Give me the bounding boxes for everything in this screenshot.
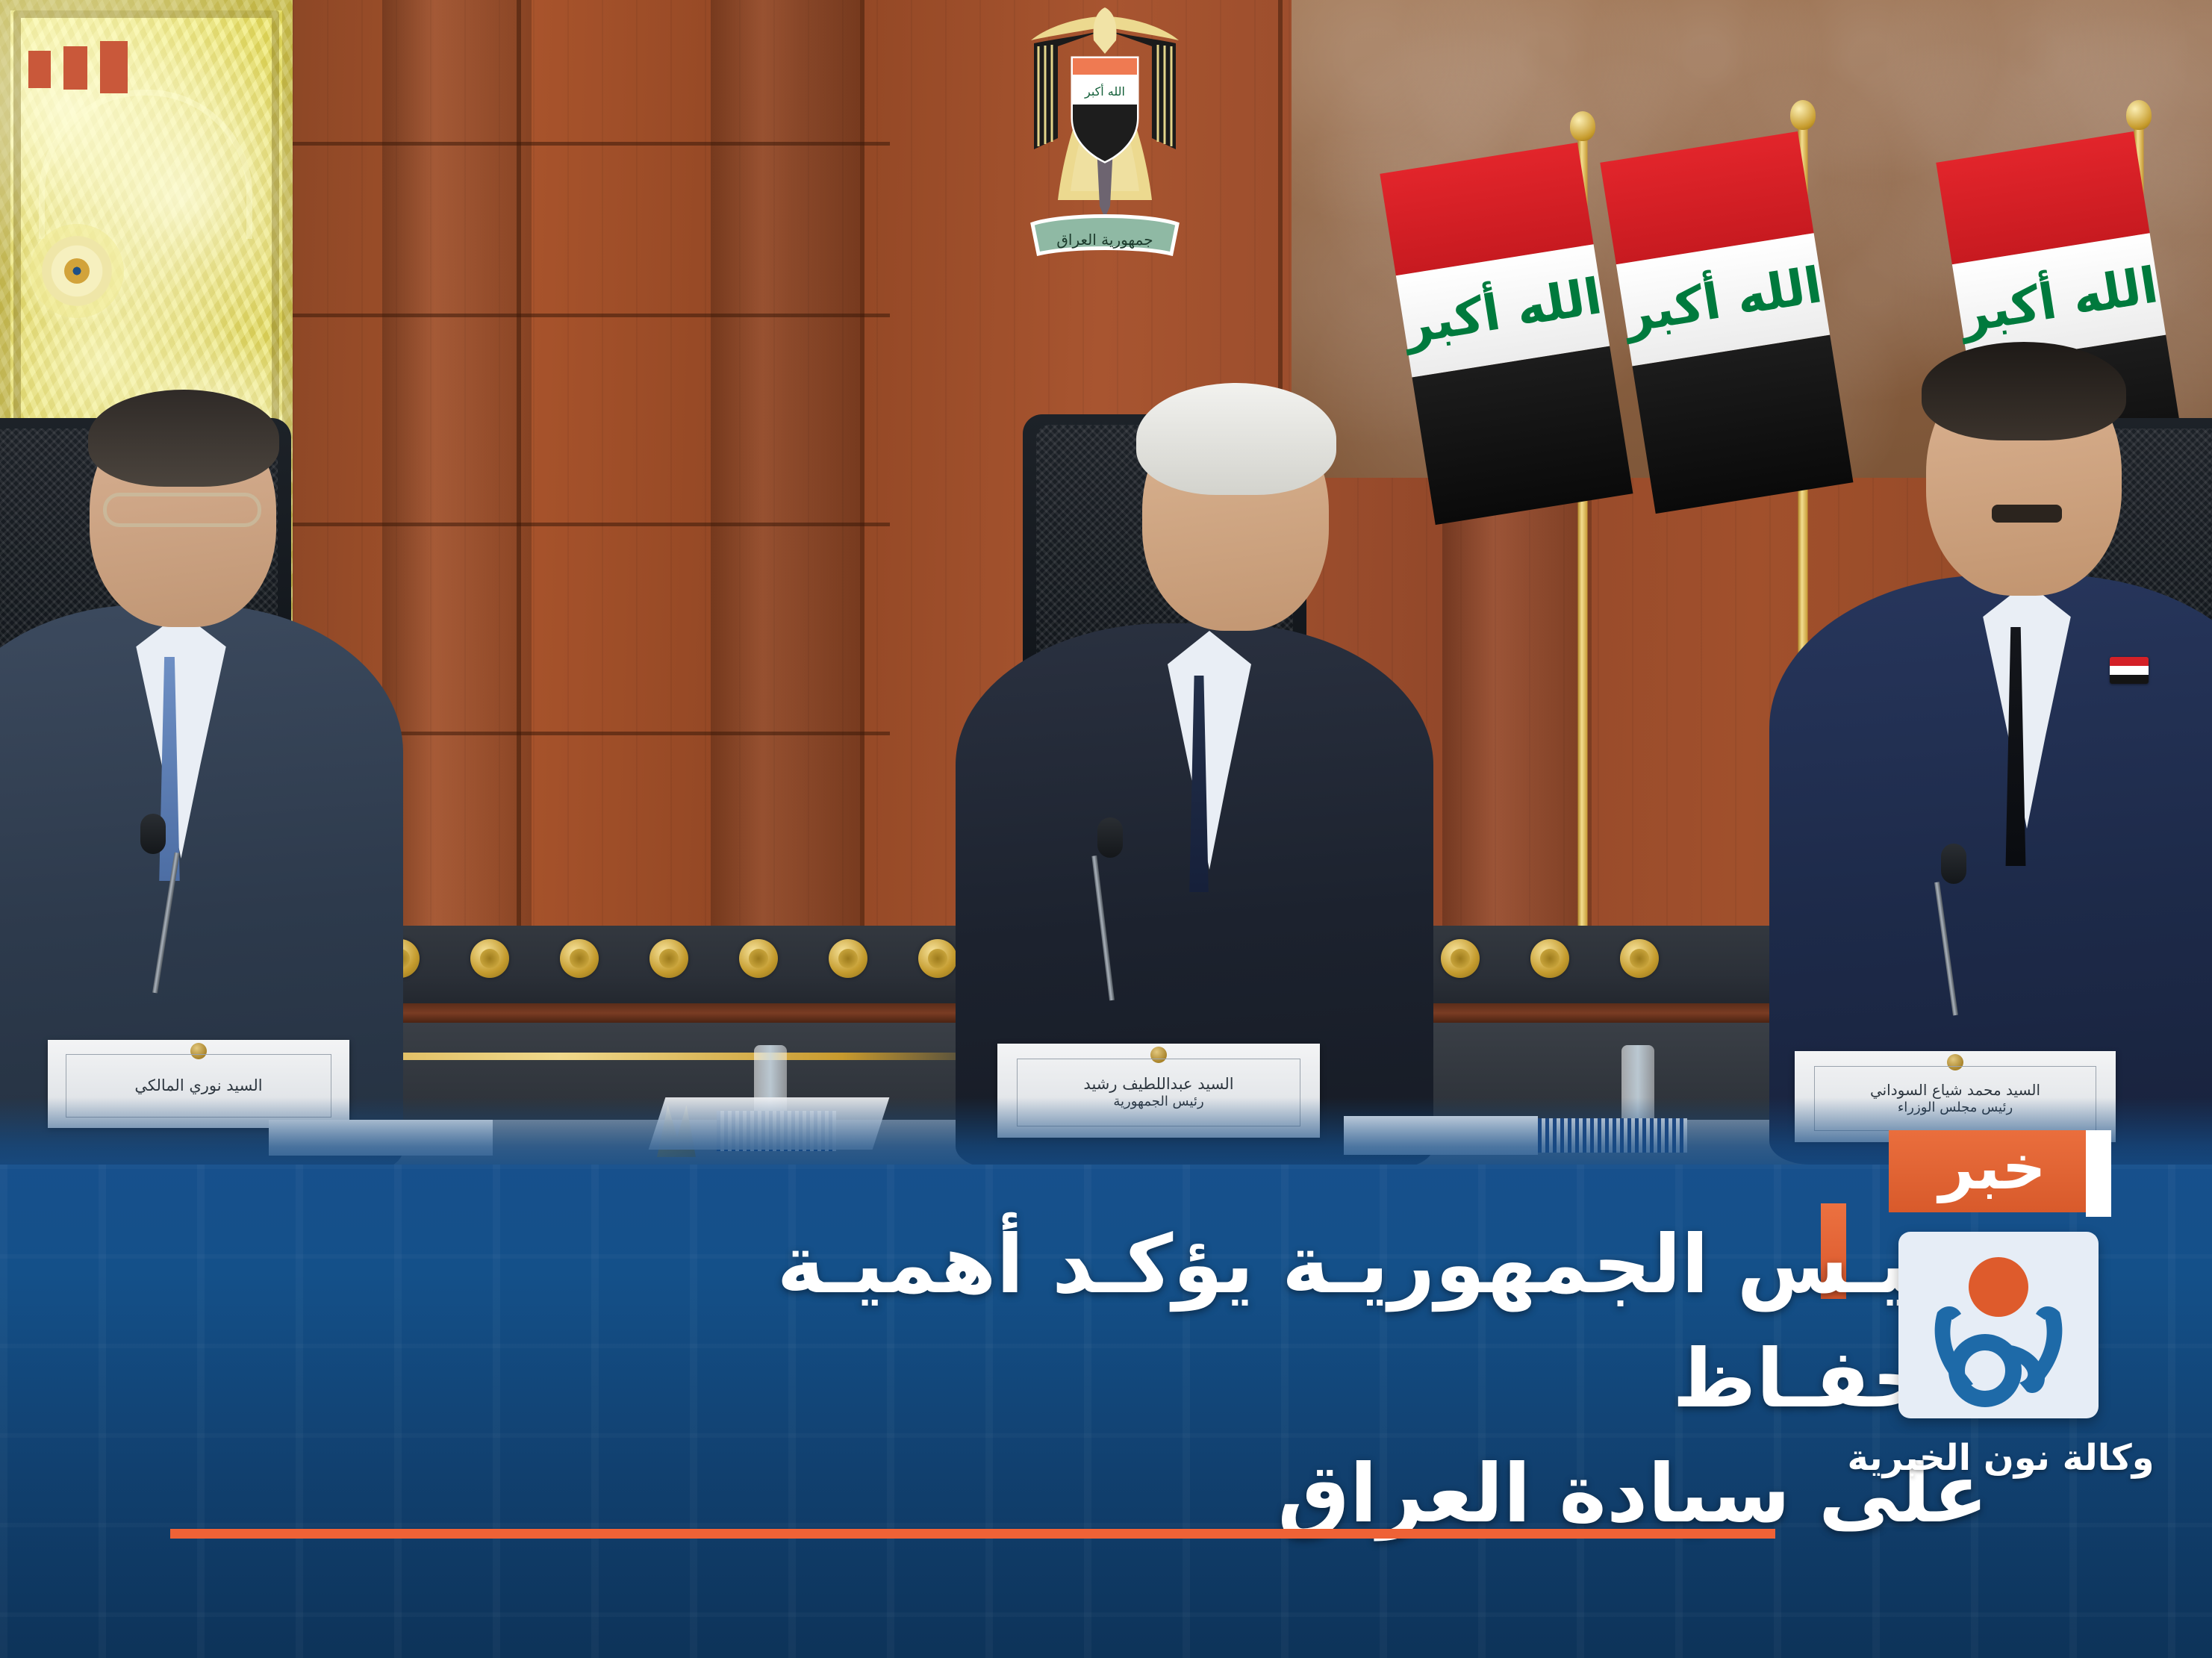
wood-seam — [293, 142, 890, 146]
nameplate-name: السيد محمد شياع السوداني — [1870, 1082, 2040, 1099]
flag-finial-icon — [1790, 100, 1816, 130]
bottom-rule — [170, 1529, 1775, 1539]
agency-name: وكالة نون الخبرية — [1836, 1437, 2165, 1479]
gold-rosette-icon — [30, 224, 124, 318]
microphone-head-icon — [1097, 817, 1123, 858]
news-card: الله أكبر جمهورية العراق الله أكبر — [0, 0, 2212, 1658]
news-badge-label: خبر — [1939, 1138, 2046, 1199]
hair — [1136, 383, 1336, 495]
microphone-head-icon — [140, 814, 166, 854]
wood-seam — [293, 314, 890, 317]
svg-text:جمهورية العراق: جمهورية العراق — [1056, 231, 1153, 249]
gold-medallion-icon — [918, 939, 957, 978]
flag-finial-icon — [1570, 111, 1595, 141]
news-badge: خبر — [1889, 1130, 2096, 1212]
watermark-bars-icon — [28, 41, 128, 93]
gold-medallion-icon — [560, 939, 599, 978]
news-badge-tab — [2086, 1130, 2111, 1217]
svg-text:الله أكبر: الله أكبر — [1084, 84, 1125, 99]
gold-medallion-icon — [649, 939, 688, 978]
gold-medallion-icon — [739, 939, 778, 978]
hair — [1922, 342, 2126, 440]
hair — [88, 390, 279, 487]
moustache — [1992, 505, 2062, 523]
seated-official-right — [1807, 328, 2212, 1165]
headline-line-1: رئيـس الجمهوريـة يؤكـد أهميـة الحفـاظ — [777, 1218, 1988, 1426]
gold-medallion-icon — [829, 939, 867, 978]
gold-medallion-icon — [470, 939, 509, 978]
agency-logo-icon — [1898, 1232, 2099, 1418]
watermark-bar — [100, 41, 128, 93]
flag-finial-icon — [2126, 100, 2152, 130]
gold-medallion-icon — [1530, 939, 1569, 978]
watermark-bar — [28, 51, 51, 88]
nameplate-name: السيد عبداللطيف رشيد — [1083, 1075, 1233, 1093]
wood-seam — [860, 0, 864, 937]
microphone-head-icon — [1941, 844, 1966, 884]
gold-medallion-icon — [1620, 939, 1659, 978]
lapel-flag-pin-icon — [2110, 657, 2149, 684]
iraq-coat-of-arms-icon: الله أكبر جمهورية العراق — [1012, 7, 1198, 276]
wood-column — [711, 0, 860, 937]
watermark-bar — [63, 46, 87, 90]
gold-medallion-icon — [1441, 939, 1480, 978]
wood-seam — [517, 0, 521, 937]
headline: رئيـس الجمهوريـة يؤكـد أهميـة الحفـاظ عل… — [450, 1208, 1988, 1551]
eyeglasses-icon — [103, 493, 261, 527]
nameplate-name: السيد نوري المالكي — [134, 1076, 262, 1094]
